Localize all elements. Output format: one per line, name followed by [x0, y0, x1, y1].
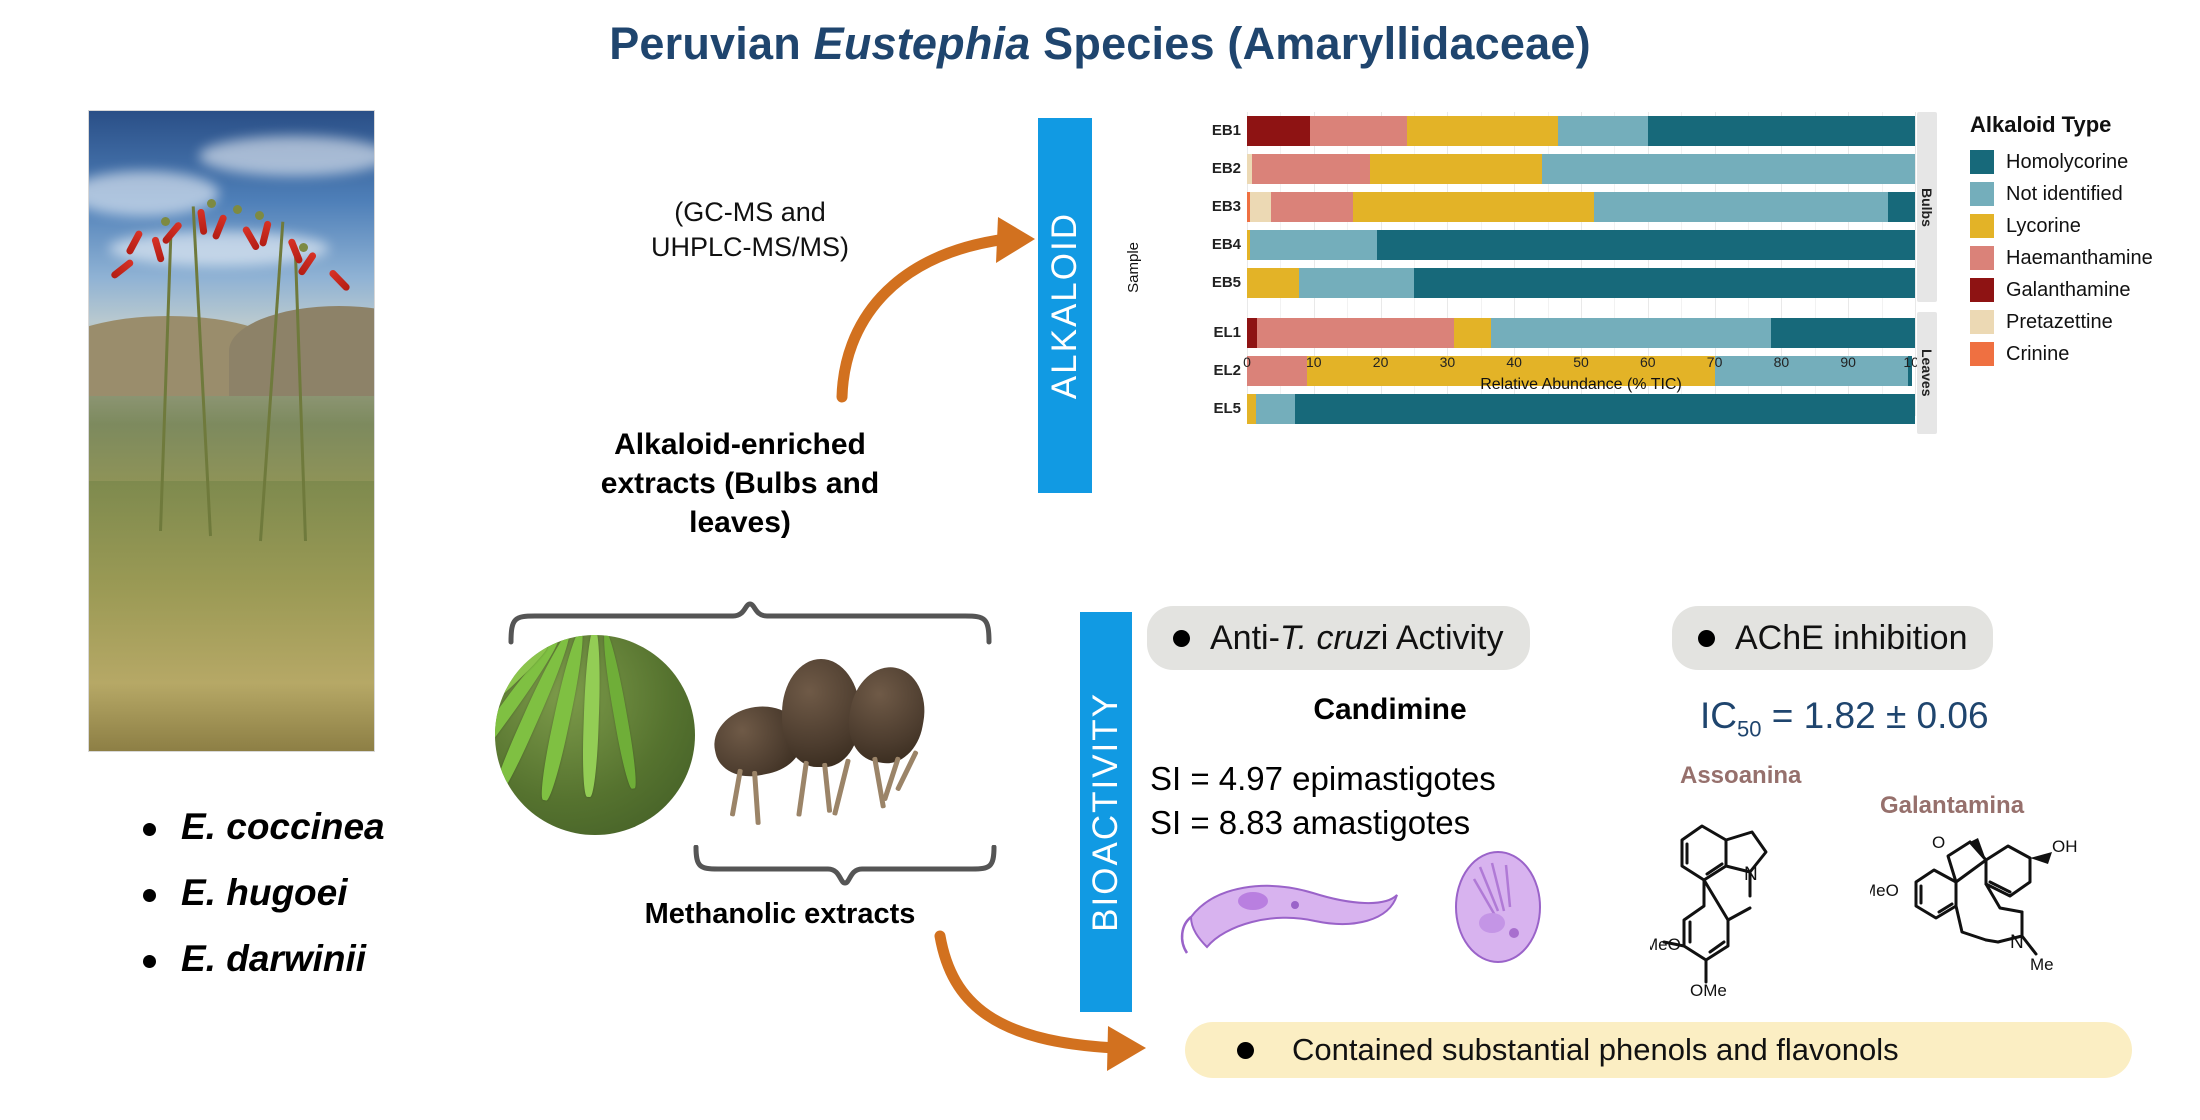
bar-segment-homolycorine	[1771, 318, 1915, 348]
legend-item: Haemanthamine	[1970, 246, 2200, 270]
phenols-banner: Contained substantial phenols and flavon…	[1185, 1022, 2132, 1078]
svg-text:N: N	[1744, 864, 1758, 885]
si-epimastigotes: SI = 4.97 epimastigotes	[1150, 757, 1650, 801]
legend-item: Lycorine	[1970, 214, 2200, 238]
chart-legend: Alkaloid Type HomolycorineNot identified…	[1970, 112, 2200, 374]
list-item: E. hugoei	[135, 872, 565, 914]
page-title: Peruvian Eustephia Species (Amaryllidace…	[0, 18, 2200, 70]
legend-label: Not identified	[2006, 183, 2123, 206]
trypanosome-epimastigote-icon	[1175, 855, 1405, 970]
legend-item: Crinine	[1970, 342, 2200, 366]
ic50-number: = 1.82 ± 0.06	[1761, 695, 1988, 736]
svg-text:Me: Me	[2030, 955, 2054, 974]
bar-row-label: EB5	[1185, 274, 1241, 291]
section-bar-bioactivity-label: BIOACTIVITY	[1086, 692, 1126, 932]
bar-segment-not-identified	[1256, 394, 1295, 424]
assoanina-label: Assoanina	[1680, 762, 1801, 790]
legend-swatch	[1970, 342, 1994, 366]
bar-segment-not-identified	[1542, 154, 1915, 184]
x-tick-label: 20	[1361, 354, 1401, 370]
ic50-subscript: 50	[1737, 716, 1761, 741]
legend-item: Homolycorine	[1970, 150, 2200, 174]
x-tick-label: 10	[1294, 354, 1334, 370]
facet-strip-bulbs: Bulbs	[1917, 112, 1937, 302]
x-tick-label: 80	[1761, 354, 1801, 370]
methanolic-extract-label: Methanolic extracts	[600, 898, 960, 931]
table-row: EB4	[1247, 230, 1915, 260]
methods-line-1: (GC-MS and	[600, 195, 900, 230]
table-row: EL1	[1247, 318, 1915, 348]
bar-segment-lycorine	[1370, 154, 1542, 184]
svg-text:O: O	[1932, 833, 1945, 852]
bottom-brace-icon	[690, 845, 1000, 887]
legend-swatch	[1970, 278, 1994, 302]
legend-label: Lycorine	[2006, 215, 2081, 238]
legend-label: Homolycorine	[2006, 151, 2128, 174]
chart-y-axis-title: Sample	[1125, 242, 1142, 293]
list-item: E. darwinii	[135, 938, 565, 980]
bar-segment-lycorine	[1247, 268, 1299, 298]
ache-inhibition-label: AChE inhibition	[1735, 619, 1967, 658]
trypanosome-amastigote-icon	[1440, 845, 1560, 970]
x-tick-label: 70	[1695, 354, 1735, 370]
table-row: EB1	[1247, 116, 1915, 146]
bar-segment-galanthamine	[1247, 318, 1257, 348]
bar-row-label: EB3	[1185, 198, 1241, 215]
table-row: EB3	[1247, 192, 1915, 222]
extract-line-1: Alkaloid-enriched	[560, 425, 920, 464]
bar-segment-haemanthamine	[1310, 116, 1407, 146]
section-bar-bioactivity: BIOACTIVITY	[1080, 612, 1132, 1012]
bar-row-label: EL5	[1185, 400, 1241, 417]
anti-t-cruzi-pre: Anti-	[1210, 619, 1280, 658]
legend-items: HomolycorineNot identifiedLycorineHaeman…	[1970, 150, 2200, 366]
chart-plot-area: Sample EB1EB2EB3EB4EB5EL1EL2EL5 01020304…	[1135, 112, 1935, 452]
bar-row-label: EB2	[1185, 160, 1241, 177]
bullet-dot-icon	[1698, 630, 1715, 647]
facet-strip-label: Bulbs	[1919, 188, 1935, 227]
bar-segment-homolycorine	[1648, 116, 1915, 146]
legend-swatch	[1970, 214, 1994, 238]
title-part1: Peruvian	[609, 18, 813, 69]
bar-row-label: EB4	[1185, 236, 1241, 253]
x-tick-label: 0	[1227, 354, 1267, 370]
bar-segment-haemanthamine	[1271, 192, 1352, 222]
legend-item: Not identified	[1970, 182, 2200, 206]
methods-line-2: UHPLC-MS/MS)	[600, 230, 900, 265]
legend-title: Alkaloid Type	[1970, 112, 2200, 138]
svg-text:MeO: MeO	[1870, 881, 1899, 900]
ic50-value: IC50 = 1.82 ± 0.06	[1700, 695, 1989, 742]
leaves-photo	[495, 635, 695, 835]
bar-segment-pretazettine	[1250, 192, 1271, 222]
candimine-label: Candimine	[1180, 693, 1600, 727]
bar-row-label: EB1	[1185, 122, 1241, 139]
bar-segment-not-identified	[1491, 318, 1772, 348]
facet-strip-leaves: Leaves	[1917, 312, 1937, 434]
bar-segment-not-identified	[1299, 268, 1414, 298]
bar-segment-haemanthamine	[1257, 318, 1454, 348]
bullet-dot-icon	[1237, 1042, 1254, 1059]
bar-segment-haemanthamine	[1252, 154, 1370, 184]
svg-text:MeO: MeO	[1650, 935, 1681, 954]
bar-segment-not-identified	[1558, 116, 1648, 146]
bar-segment-lycorine	[1454, 318, 1491, 348]
facet-strip-label: Leaves	[1919, 349, 1935, 396]
bar-segment-not-identified	[1250, 230, 1377, 260]
bar-segment-homolycorine	[1377, 230, 1915, 260]
legend-swatch	[1970, 310, 1994, 334]
plant-habitat-photo	[88, 110, 375, 752]
bar-segment-lycorine	[1247, 394, 1256, 424]
legend-label: Crinine	[2006, 343, 2069, 366]
legend-swatch	[1970, 246, 1994, 270]
graphical-abstract: Peruvian Eustephia Species (Amaryllidace…	[0, 0, 2200, 1120]
bar-segment-lycorine	[1353, 192, 1595, 222]
legend-label: Pretazettine	[2006, 311, 2113, 334]
x-tick-label: 50	[1561, 354, 1601, 370]
si-amastigotes: SI = 8.83 amastigotes	[1150, 801, 1650, 845]
svg-text:OH: OH	[2052, 837, 2078, 856]
bar-segment-galanthamine	[1247, 116, 1310, 146]
x-tick-label: 90	[1828, 354, 1868, 370]
bar-segment-lycorine	[1407, 116, 1557, 146]
species-list: E. coccinea E. hugoei E. darwinii	[95, 806, 565, 1004]
bulbs-photo	[700, 645, 955, 845]
alkaloid-chart: Sample EB1EB2EB3EB4EB5EL1EL2EL5 01020304…	[1100, 112, 2200, 507]
bar-segment-homolycorine	[1888, 192, 1915, 222]
x-tick-label: 60	[1628, 354, 1668, 370]
section-bar-alkaloid-label: ALKALOID	[1045, 212, 1085, 399]
alkaloid-extract-label: Alkaloid-enriched extracts (Bulbs and le…	[560, 425, 920, 542]
title-genus: Eustephia	[814, 18, 1031, 69]
galantamina-structure-icon: O OH MeO N Me	[1870, 812, 2100, 1012]
anti-t-cruzi-pill: Anti-T. cruzi Activity	[1147, 606, 1530, 670]
title-part2: Species (Amaryllidaceae)	[1030, 18, 1590, 69]
legend-item: Pretazettine	[1970, 310, 2200, 334]
extract-line-3: leaves)	[560, 503, 920, 542]
legend-label: Haemanthamine	[2006, 247, 2153, 270]
table-row: EB5	[1247, 268, 1915, 298]
anti-t-cruzi-post: i Activity	[1381, 619, 1504, 658]
gridline	[1915, 112, 1916, 416]
anti-t-cruzi-italic: T. cruz	[1280, 619, 1381, 658]
table-row: EB2	[1247, 154, 1915, 184]
legend-swatch	[1970, 150, 1994, 174]
extract-line-2: extracts (Bulbs and	[560, 464, 920, 503]
list-item: E. coccinea	[135, 806, 565, 848]
bar-segment-homolycorine	[1295, 394, 1915, 424]
section-bar-alkaloid: ALKALOID	[1038, 118, 1092, 493]
ic50-prefix: IC	[1700, 695, 1737, 736]
selectivity-index-values: SI = 4.97 epimastigotes SI = 8.83 amasti…	[1150, 757, 1650, 844]
legend-swatch	[1970, 182, 1994, 206]
legend-item: Galanthamine	[1970, 278, 2200, 302]
svg-text:N: N	[2010, 932, 2024, 953]
chart-x-axis-title: Relative Abundance (% TIC)	[1247, 376, 1915, 394]
svg-text:OMe: OMe	[1690, 981, 1727, 1000]
x-tick-label: 30	[1427, 354, 1467, 370]
assoanina-structure-icon: N MeO OMe	[1650, 790, 1840, 1000]
x-tick-label: 40	[1494, 354, 1534, 370]
table-row: EL5	[1247, 394, 1915, 424]
bar-segment-homolycorine	[1414, 268, 1915, 298]
analysis-methods-note: (GC-MS and UHPLC-MS/MS)	[600, 195, 900, 264]
ache-inhibition-pill: AChE inhibition	[1672, 606, 1993, 670]
bullet-dot-icon	[1173, 630, 1190, 647]
legend-label: Galanthamine	[2006, 279, 2131, 302]
bar-row-label: EL1	[1185, 324, 1241, 341]
bar-segment-not-identified	[1594, 192, 1888, 222]
phenols-banner-text: Contained substantial phenols and flavon…	[1292, 1032, 1899, 1068]
